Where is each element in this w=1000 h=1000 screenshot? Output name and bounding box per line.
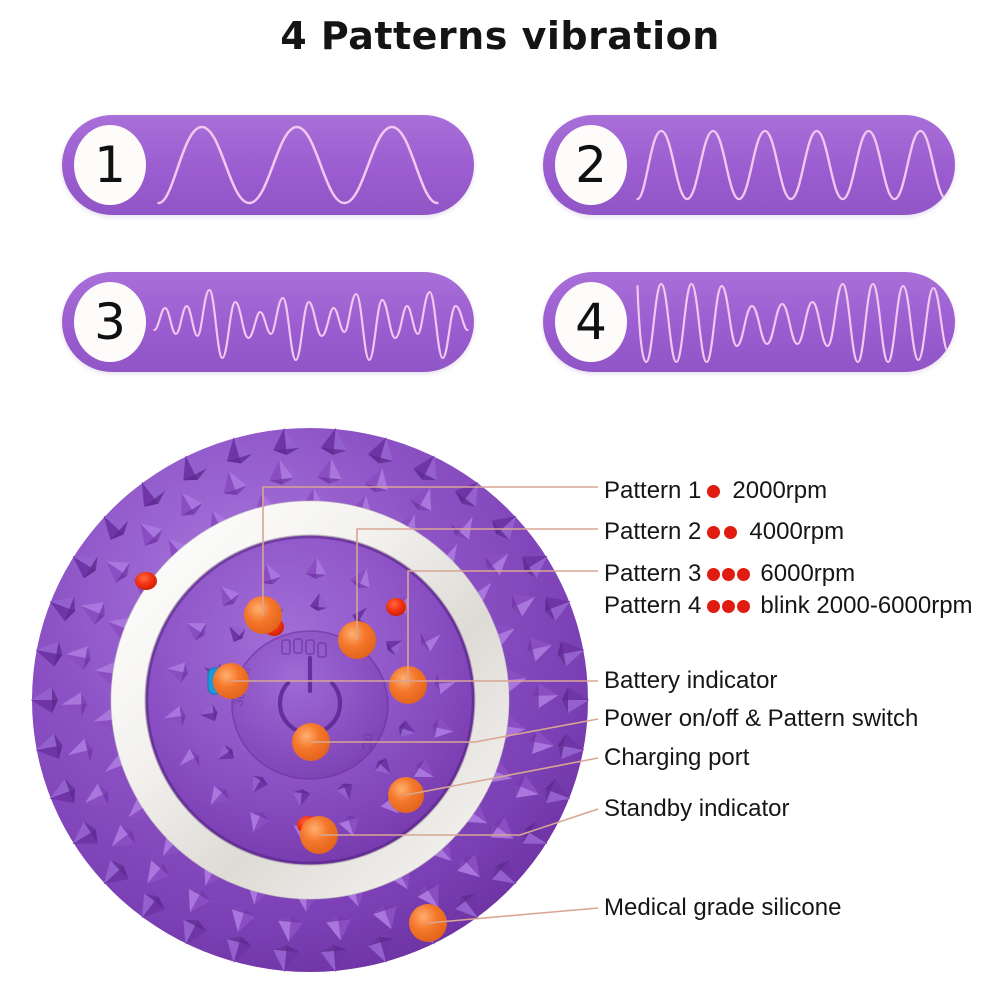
label-pattern-2-name: Pattern 2 [604, 518, 701, 546]
label-battery-indicator: Battery indicator [604, 667, 777, 695]
pattern-number-3: 3 [74, 282, 146, 362]
rpm-dot [722, 600, 735, 613]
pattern-badge-1: 1 [62, 115, 474, 215]
label-pattern-1: Pattern 1 2000rpm [604, 477, 827, 505]
rpm-dot [707, 485, 720, 498]
rpm-dot [724, 526, 737, 539]
massage-ball-illustration: 3000M 0C [20, 415, 600, 985]
rpm-dots-4 [707, 600, 752, 613]
label-standby-indicator: Standby indicator [604, 795, 789, 823]
label-pattern-4: Pattern 4 blink 2000-6000rpm [604, 592, 973, 620]
callout-dot-charging [388, 777, 424, 813]
label-power-pattern-switch: Power on/off & Pattern switch [604, 705, 918, 733]
rpm-dot [737, 568, 750, 581]
rpm-dots-1 [707, 485, 724, 498]
label-pattern-3-rpm: 6000rpm [760, 560, 855, 588]
page-title: 4 Patterns vibration [0, 14, 1000, 58]
callout-dot-pattern3 [389, 666, 427, 704]
hub-emboss-right: 0C [359, 733, 376, 751]
rpm-dot [707, 526, 720, 539]
rpm-dots-3 [707, 568, 752, 581]
label-charging-port: Charging port [604, 744, 749, 772]
pattern-badge-4: 4 [543, 272, 955, 372]
label-pattern-1-rpm: 2000rpm [732, 477, 827, 505]
rpm-dot [722, 568, 735, 581]
callout-dot-standby [300, 816, 338, 854]
pattern-badge-2: 2 [543, 115, 955, 215]
rpm-dots-2 [707, 526, 741, 539]
fast-modulated-wave-icon [150, 272, 474, 372]
callout-dot-power [292, 723, 330, 761]
callout-dot-battery [213, 663, 249, 699]
rpm-dot [707, 568, 720, 581]
product-photo-massage-ball: 3000M 0C [20, 415, 600, 985]
medium-sine-wave-icon [631, 115, 955, 215]
label-pattern-3: Pattern 3 6000rpm [604, 560, 855, 588]
rpm-dot [737, 600, 750, 613]
pattern-number-2: 2 [555, 125, 627, 205]
pattern-number-4: 4 [555, 282, 627, 362]
label-pattern-3-name: Pattern 3 [604, 560, 701, 588]
pattern-number-1: 1 [74, 125, 146, 205]
callout-dot-silicone [409, 904, 447, 942]
label-pattern-4-name: Pattern 4 [604, 592, 701, 620]
label-pattern-4-rpm: blink 2000-6000rpm [760, 592, 972, 620]
callout-dot-pattern1 [244, 596, 282, 634]
pattern-badge-3: 3 [62, 272, 474, 372]
blink-burst-wave-icon [631, 272, 955, 372]
callout-dot-pattern2 [338, 621, 376, 659]
label-pattern-2: Pattern 2 4000rpm [604, 518, 844, 546]
label-medical-grade-silicone: Medical grade silicone [604, 894, 841, 922]
label-pattern-2-rpm: 4000rpm [749, 518, 844, 546]
label-pattern-1-name: Pattern 1 [604, 477, 701, 505]
infographic-canvas: 4 Patterns vibration 1 2 3 4 [0, 0, 1000, 1000]
rpm-dot [707, 600, 720, 613]
slow-sine-wave-icon [150, 115, 474, 215]
